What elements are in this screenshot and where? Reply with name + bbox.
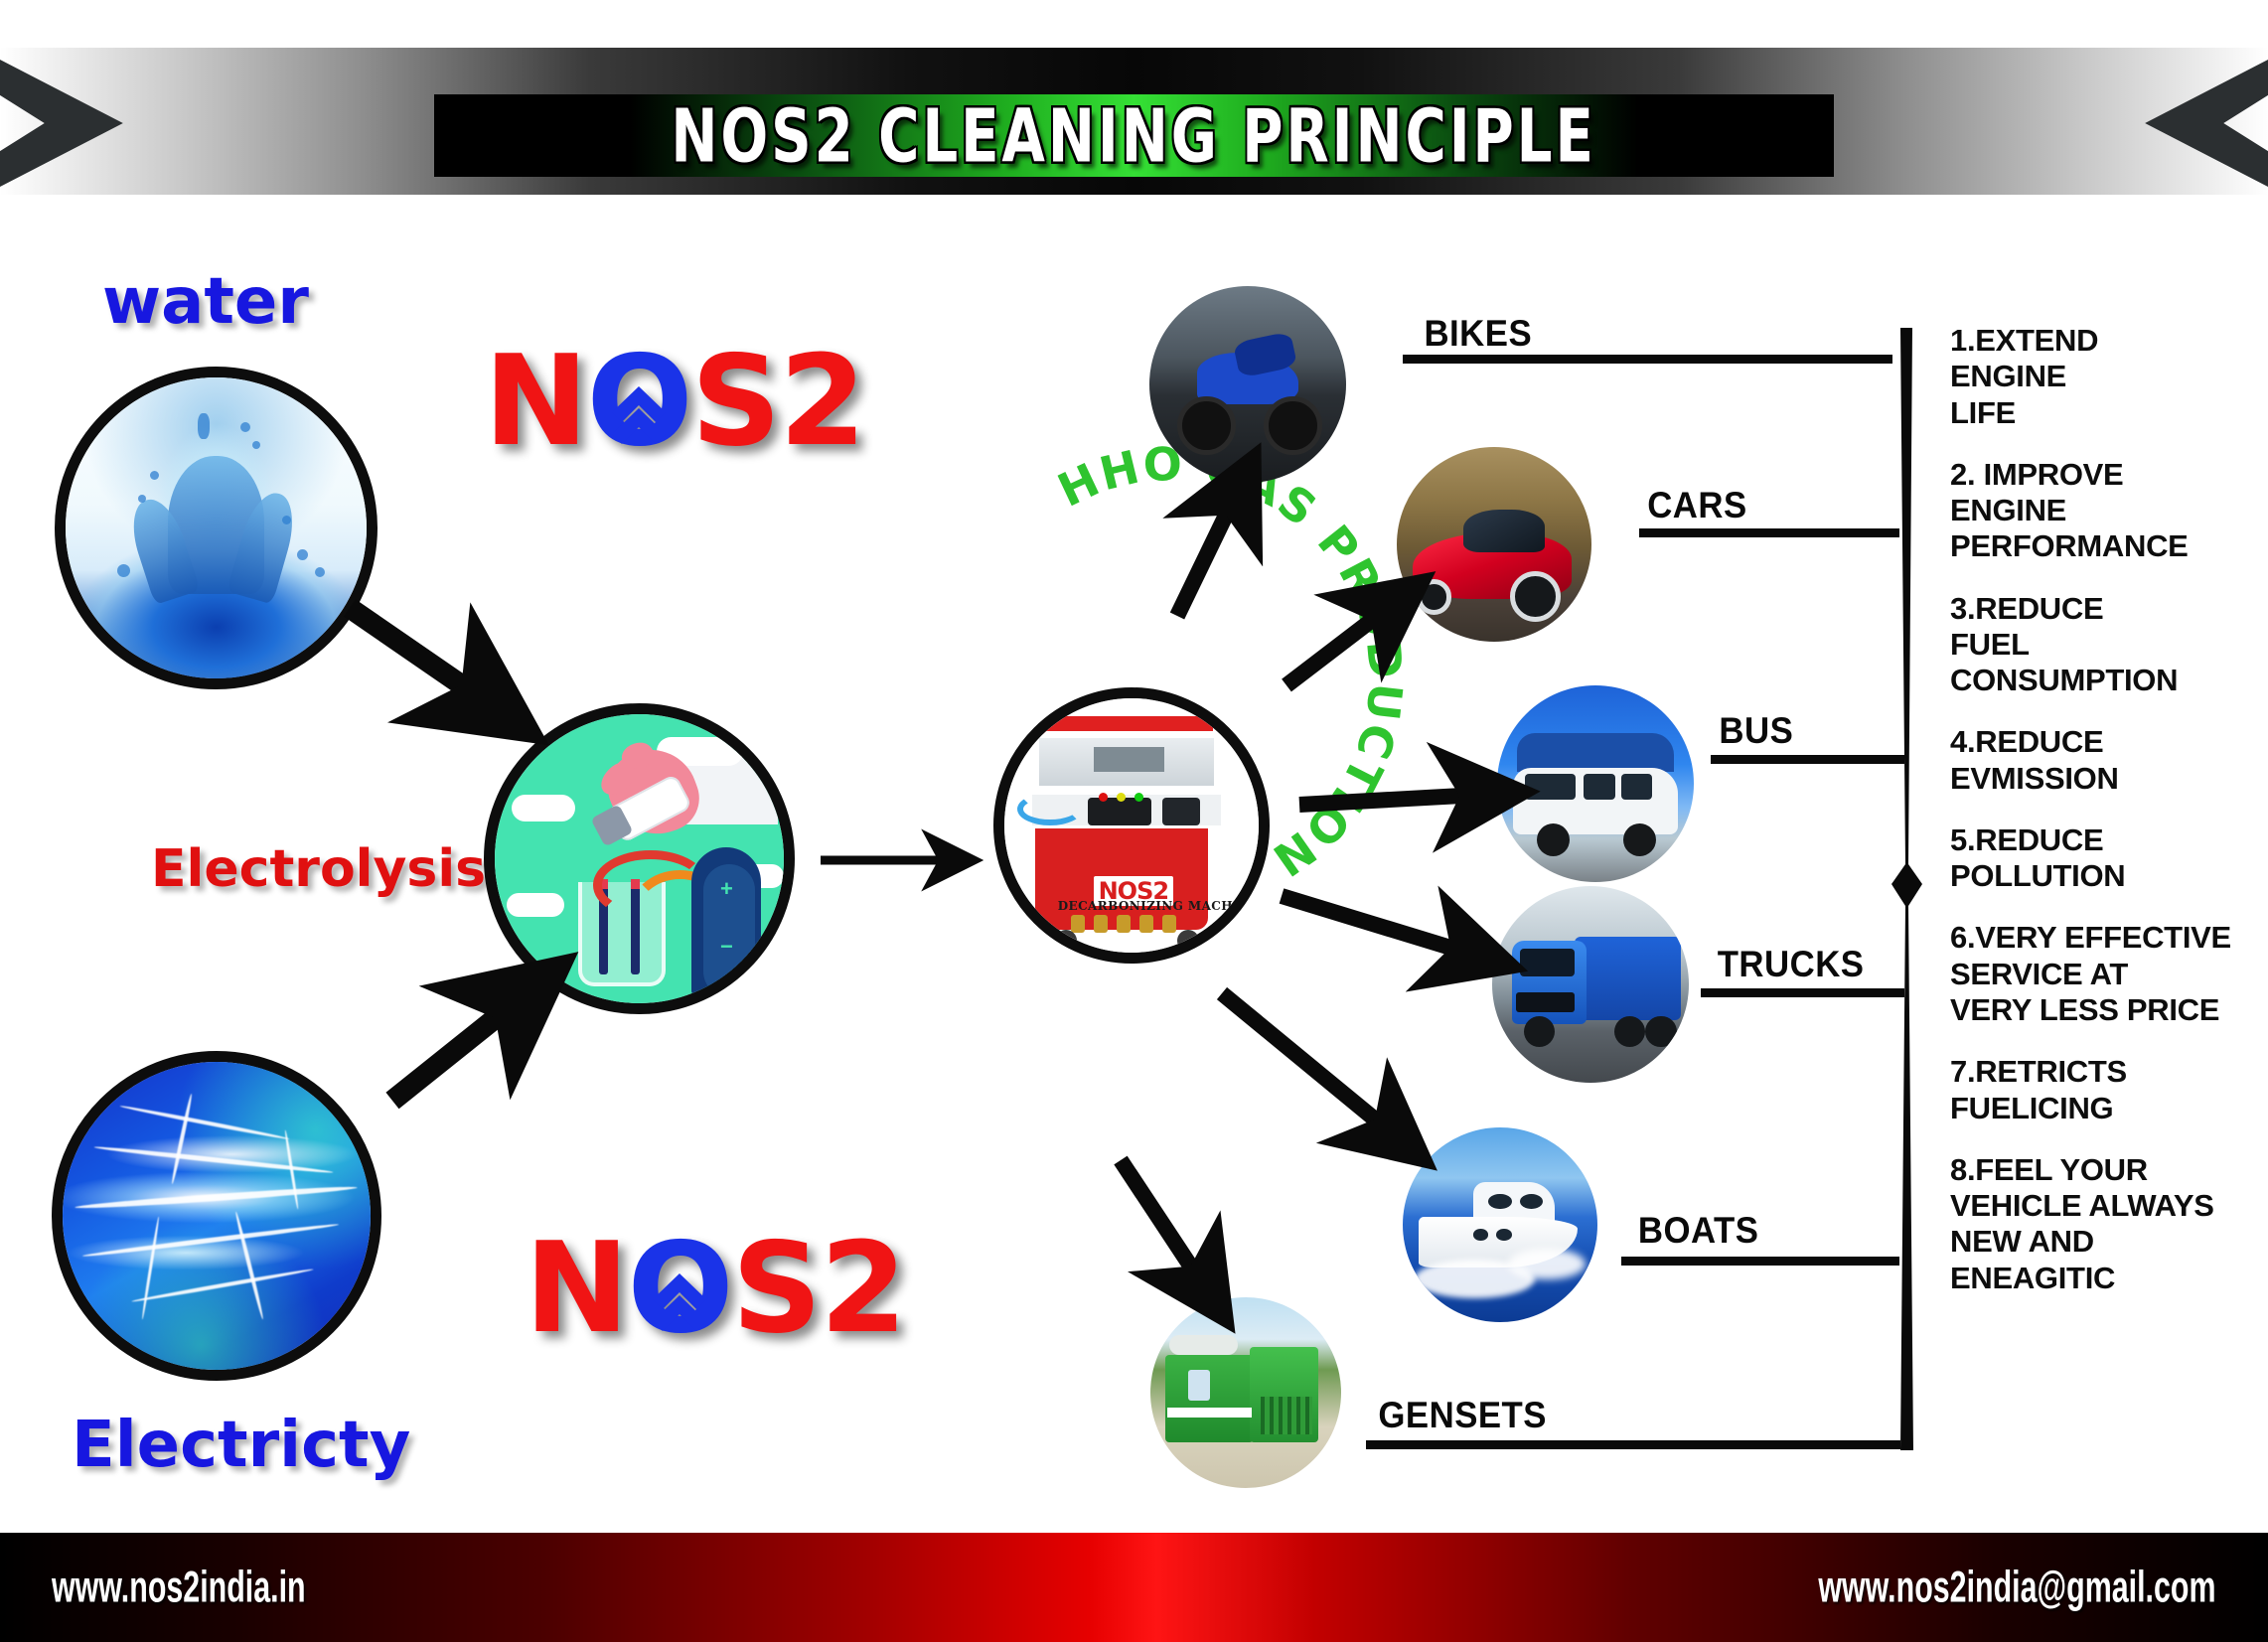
chevron-up-icon	[610, 384, 668, 446]
water-circle	[55, 367, 378, 689]
rule-bikes	[1403, 355, 1892, 364]
footer-band: www.nos2india.in www.nos2india@gmail.com	[0, 1533, 2268, 1642]
label-gensets: GENSETS	[1378, 1395, 1547, 1436]
benefit-item: 2. IMPROVE ENGINE PERFORMANCE	[1950, 457, 2260, 565]
logo-letter-o: O	[586, 350, 690, 452]
bikes-photo	[1149, 286, 1346, 483]
gensets-photo	[1150, 1297, 1341, 1488]
benefit-item: 1.EXTEND ENGINE LIFE	[1950, 323, 2260, 431]
water-splash-image	[66, 377, 367, 678]
logo-letter-2: 2	[779, 350, 864, 452]
chevron-up-icon	[651, 1271, 708, 1333]
arrow-electricity-to-electrolysis	[392, 1001, 517, 1101]
electricity-label: Electricty	[72, 1409, 410, 1482]
rule-cars	[1639, 528, 1899, 537]
benefit-item: 6.VERY EFFECTIVE SERVICE AT VERY LESS PR…	[1950, 920, 2260, 1028]
logo-letter-o: O	[627, 1237, 731, 1339]
benefit-item: 8.FEEL YOUR VEHICLE ALWAYS NEW AND ENEAG…	[1950, 1152, 2260, 1296]
rule-gensets	[1366, 1440, 1900, 1449]
benefit-item: 4.REDUCE EVMISSION	[1950, 724, 2260, 797]
logo-letter-s: S	[691, 350, 780, 452]
electrolysis-illustration: + −	[495, 714, 784, 1003]
bus-photo	[1497, 685, 1694, 882]
label-cars: CARS	[1647, 485, 1746, 526]
arrow-to-gensets	[1121, 1160, 1202, 1283]
label-trucks: TRUCKS	[1718, 944, 1865, 985]
water-label: water	[102, 265, 309, 339]
label-boats: BOATS	[1638, 1210, 1759, 1252]
title-plate: NOS2 CLEANING PRINCIPLE	[434, 94, 1834, 177]
benefit-item: 5.REDUCE POLLUTION	[1950, 822, 2260, 895]
website-text: www.nos2india.in	[52, 1563, 306, 1612]
electrolysis-circle: + −	[484, 703, 795, 1014]
nos2-logo-bottom: N O S 2	[525, 1237, 905, 1339]
infographic-poster: NOS2 CLEANING PRINCIPLE water	[0, 0, 2268, 1642]
decarbonizing-machine-image: NOS2 DECARBONIZING MACHINE	[1004, 698, 1259, 953]
arrow-to-boats	[1222, 993, 1391, 1132]
nos2-logo-top: N O S 2	[484, 350, 864, 452]
label-bikes: BIKES	[1424, 313, 1532, 355]
benefits-list: 1.EXTEND ENGINE LIFE 2. IMPROVE ENGINE P…	[1950, 323, 2260, 1322]
machine-caption: DECARBONIZING MACHINE	[1058, 899, 1260, 913]
logo-letter-n: N	[525, 1237, 627, 1339]
boats-photo	[1403, 1127, 1597, 1322]
grouping-brace	[1868, 328, 1927, 1450]
logo-letter-2: 2	[820, 1237, 905, 1339]
logo-letter-s: S	[732, 1237, 821, 1339]
label-bus: BUS	[1719, 710, 1793, 752]
lightning-image	[63, 1062, 371, 1370]
electrolysis-label: Electrolysis	[151, 839, 486, 899]
logo-letter-n: N	[484, 350, 586, 452]
cars-photo	[1397, 447, 1591, 642]
page-title: NOS2 CLEANING PRINCIPLE	[672, 92, 1596, 179]
rule-boats	[1621, 1257, 1899, 1266]
trucks-photo	[1492, 886, 1689, 1083]
email-text: www.nos2india@gmail.com	[1819, 1563, 2216, 1612]
electricity-circle	[52, 1051, 381, 1381]
machine-circle: NOS2 DECARBONIZING MACHINE	[993, 687, 1270, 964]
arrow-water-to-electrolysis	[350, 608, 484, 700]
benefit-item: 3.REDUCE FUEL CONSUMPTION	[1950, 591, 2260, 699]
benefit-item: 7.RETRICTS FUELICING	[1950, 1054, 2260, 1126]
